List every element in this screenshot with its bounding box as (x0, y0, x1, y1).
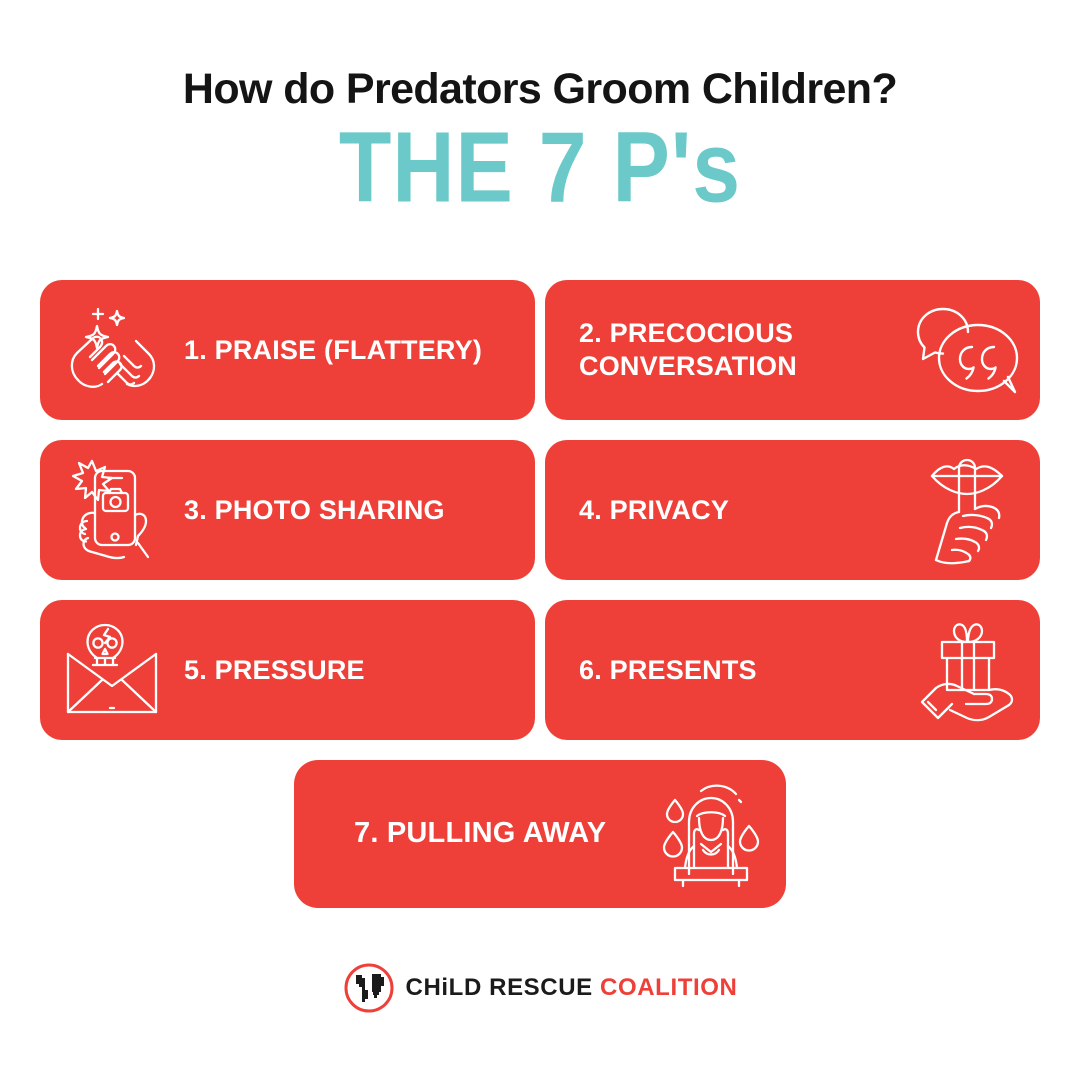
poster-header: How do Predators Groom Children? THE 7 P… (0, 0, 1080, 206)
card-privacy[interactable]: 4. PRIVACY (545, 440, 1040, 580)
hand-holding-phone-camera-icon (58, 456, 166, 564)
card-photo-sharing[interactable]: 3. PHOTO SHARING (40, 440, 535, 580)
globe-in-circle-icon (343, 962, 395, 1014)
hand-holding-gift-icon (914, 616, 1022, 724)
page-subtitle: THE 7 P's (0, 118, 1080, 220)
card-row: 7. PULLING AWAY (40, 760, 1040, 908)
card-row: 1. PRAISE (FLATTERY) 2. PRECOCIOUS CONVE… (40, 280, 1040, 420)
card-label-line-1: 2. PRECOCIOUS (579, 318, 793, 348)
card-label: 7. PULLING AWAY (328, 816, 650, 851)
envelope-skull-icon (58, 616, 166, 724)
card-label: 6. PRESENTS (579, 654, 914, 687)
brand-wordmark: CHiLD RESCUE COALITION (406, 974, 738, 1002)
cards-grid: 1. PRAISE (FLATTERY) 2. PRECOCIOUS CONVE… (40, 280, 1040, 908)
page-title: How do Predators Groom Children? (0, 66, 1080, 112)
card-pressure[interactable]: 5. PRESSURE (40, 600, 535, 740)
card-precocious-conversation[interactable]: 2. PRECOCIOUS CONVERSATION (545, 280, 1040, 420)
infographic-poster: How do Predators Groom Children? THE 7 P… (0, 0, 1080, 1080)
speech-bubbles-quote-icon (914, 296, 1022, 404)
card-label: 5. PRESSURE (166, 654, 517, 687)
card-label: 1. PRAISE (FLATTERY) (166, 334, 517, 367)
card-label: 4. PRIVACY (579, 494, 914, 527)
brand-secondary: COALITION (600, 974, 737, 1001)
card-pulling-away[interactable]: 7. PULLING AWAY (294, 760, 786, 908)
card-presents[interactable]: 6. PRESENTS (545, 600, 1040, 740)
card-row: 3. PHOTO SHARING 4. PRIVACY (40, 440, 1040, 580)
card-praise[interactable]: 1. PRAISE (FLATTERY) (40, 280, 535, 420)
crying-person-icon (650, 775, 768, 893)
card-row: 5. PRESSURE 6. PRESENTS (40, 600, 1040, 740)
footer-logo: CHiLD RESCUE COALITION (0, 962, 1080, 1014)
shush-finger-on-lips-icon (914, 456, 1022, 564)
clapping-hands-icon (58, 296, 166, 404)
card-label-line-2: CONVERSATION (579, 351, 797, 381)
brand-primary: CHiLD RESCUE (406, 974, 593, 1001)
card-label: 3. PHOTO SHARING (166, 494, 517, 527)
card-label: 2. PRECOCIOUS CONVERSATION (579, 317, 914, 383)
